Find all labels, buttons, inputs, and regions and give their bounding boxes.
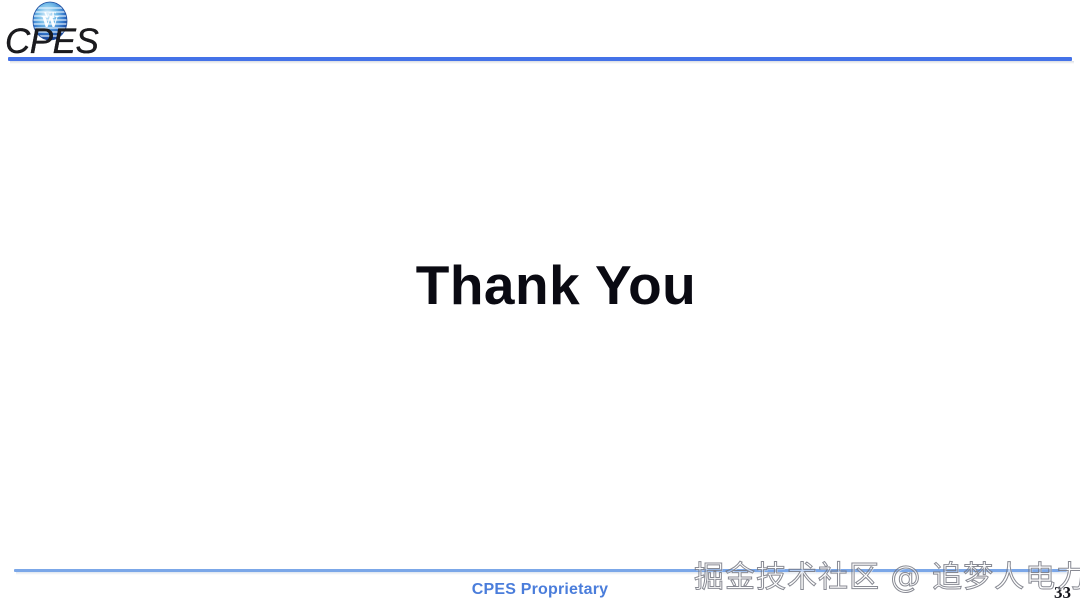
slide-canvas: W VT CPES Thank You CPES Proprietary 33 … bbox=[0, 0, 1080, 608]
slide-body: Thank You bbox=[0, 64, 1080, 564]
header-logo-block: W VT CPES bbox=[0, 0, 120, 60]
footer-divider-shadow bbox=[16, 572, 1069, 575]
page-number: 33 bbox=[1054, 583, 1071, 603]
footer-proprietary-label: CPES Proprietary bbox=[0, 581, 1080, 599]
svg-text:VT: VT bbox=[43, 10, 56, 20]
page-title: Thank You bbox=[0, 254, 1080, 316]
cpes-wordmark: CPES bbox=[5, 24, 98, 60]
